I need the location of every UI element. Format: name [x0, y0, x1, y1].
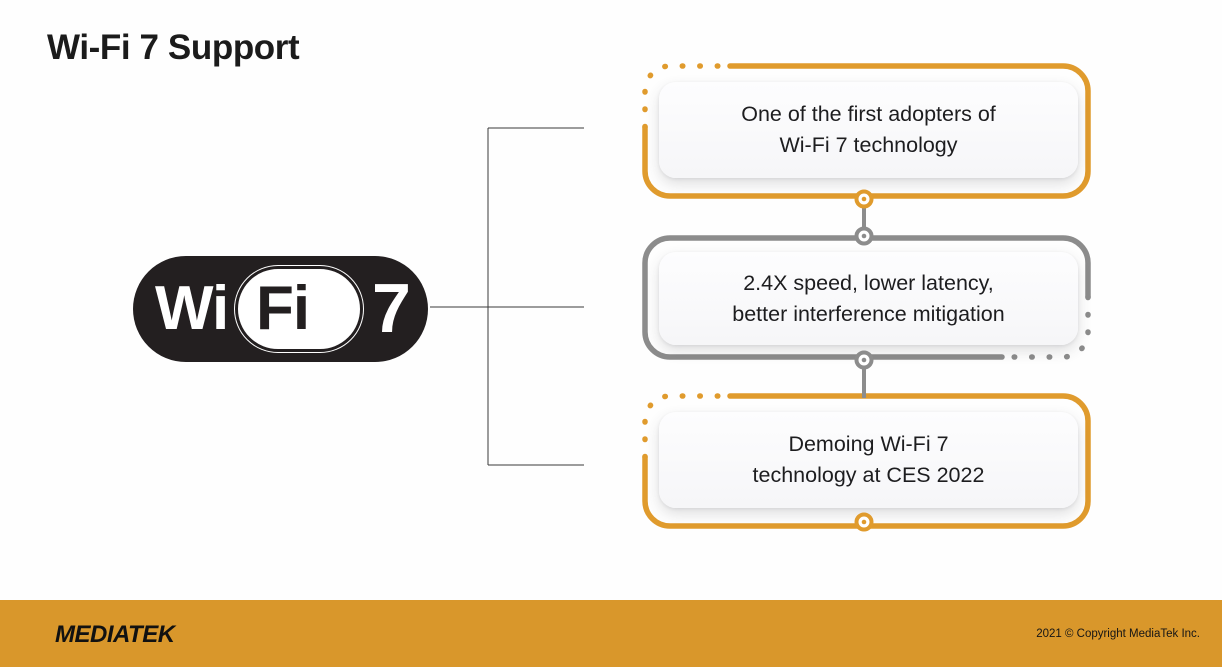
copyright-text: 2021 © Copyright MediaTek Inc. — [1036, 628, 1200, 640]
feature-list: One of the first adopters of Wi-Fi 7 tec… — [636, 58, 1106, 538]
feature-item-1[interactable]: One of the first adopters of Wi-Fi 7 tec… — [636, 58, 1106, 203]
feature-text-2: 2.4X speed, lower latency, better interf… — [718, 268, 1018, 329]
svg-text:MEDIATEK: MEDIATEK — [55, 621, 177, 647]
mediatek-logo: MEDIATEK — [55, 621, 205, 647]
feature-card-1: One of the first adopters of Wi-Fi 7 tec… — [659, 82, 1078, 178]
feature-card-3: Demoing Wi-Fi 7 technology at CES 2022 — [659, 412, 1078, 508]
feature-item-2[interactable]: 2.4X speed, lower latency, better interf… — [636, 235, 1106, 363]
wifi-7-logo: Wi Fi 7 — [133, 256, 428, 362]
slide-canvas: Wi-Fi 7 Support Wi Fi 7 — [0, 0, 1222, 667]
svg-text:7: 7 — [372, 269, 411, 347]
page-title: Wi-Fi 7 Support — [47, 28, 299, 68]
footer-bar: MEDIATEK 2021 © Copyright MediaTek Inc. — [0, 600, 1222, 667]
feature-text-3: Demoing Wi-Fi 7 technology at CES 2022 — [739, 429, 999, 490]
svg-text:Fi: Fi — [256, 274, 309, 343]
feature-text-1: One of the first adopters of Wi-Fi 7 tec… — [727, 99, 1010, 160]
feature-item-3[interactable]: Demoing Wi-Fi 7 technology at CES 2022 — [636, 388, 1106, 538]
svg-text:Wi: Wi — [155, 274, 228, 343]
feature-card-2: 2.4X speed, lower latency, better interf… — [659, 252, 1078, 345]
bracket-connector — [420, 110, 620, 500]
